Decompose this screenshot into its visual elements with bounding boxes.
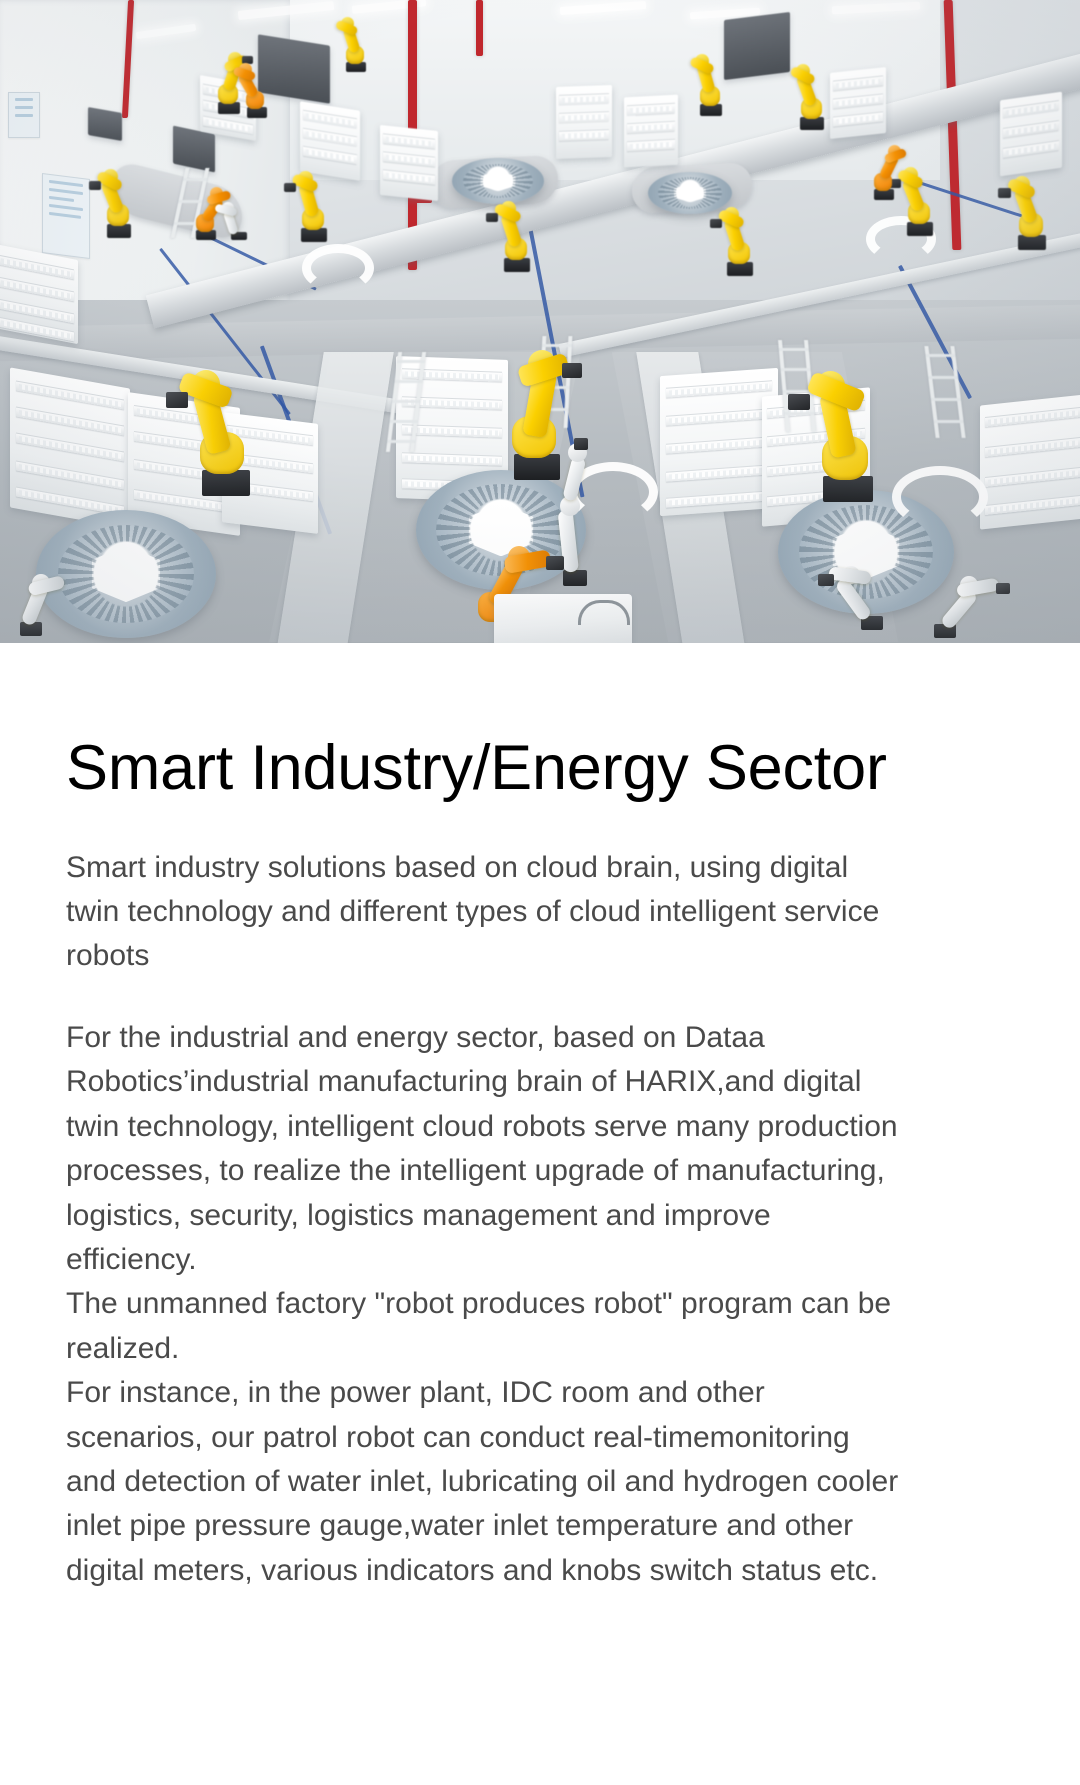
cobot-arm [880,526,1010,638]
wall-sign [8,92,40,138]
parts-rack [830,67,886,139]
robot-arm [178,368,274,496]
robot-arm [96,168,142,238]
factory-scene [0,0,1080,643]
robot-arm [862,142,906,200]
parts-rack [660,368,778,516]
cobot-arm [0,528,76,636]
robot-arm [236,62,278,118]
machine-cell [724,12,790,80]
robot-arm [790,62,834,130]
robot-arm [336,18,376,72]
robot-arm [690,54,732,116]
robot-arm [716,204,764,276]
robot-arm [1006,172,1058,250]
robot-arm [798,372,898,502]
robot-station-ring [892,466,988,528]
robot-arm [290,170,338,242]
parts-rack [1000,92,1062,177]
parts-rack [624,95,678,168]
article-lead: Smart industry solutions based on cloud … [66,846,896,978]
article-content: Smart Industry/Energy Sector Smart indus… [0,643,1080,1593]
parts-rack [300,101,360,181]
parts-rack [556,85,612,159]
machine-cell [88,107,122,141]
red-pipe [944,0,962,250]
cobot-arm [210,196,268,240]
parts-rack [0,244,78,344]
parts-rack [10,367,130,528]
page-title: Smart Industry/Energy Sector [66,643,1014,802]
red-pipe [476,0,483,56]
robot-arm [492,198,542,272]
parts-rack [980,394,1080,529]
article-body: For the industrial and energy sector, ba… [66,1016,906,1593]
wall-poster [42,173,90,259]
article-paragraph-3: For instance, in the power plant, IDC ro… [66,1371,906,1593]
article-paragraph-1: For the industrial and energy sector, ba… [66,1016,906,1282]
robot-station-ring [302,244,374,292]
article-paragraph-2: The unmanned factory "robot produces rob… [66,1282,906,1371]
parts-rack [380,125,438,201]
hero-image [0,0,1080,643]
